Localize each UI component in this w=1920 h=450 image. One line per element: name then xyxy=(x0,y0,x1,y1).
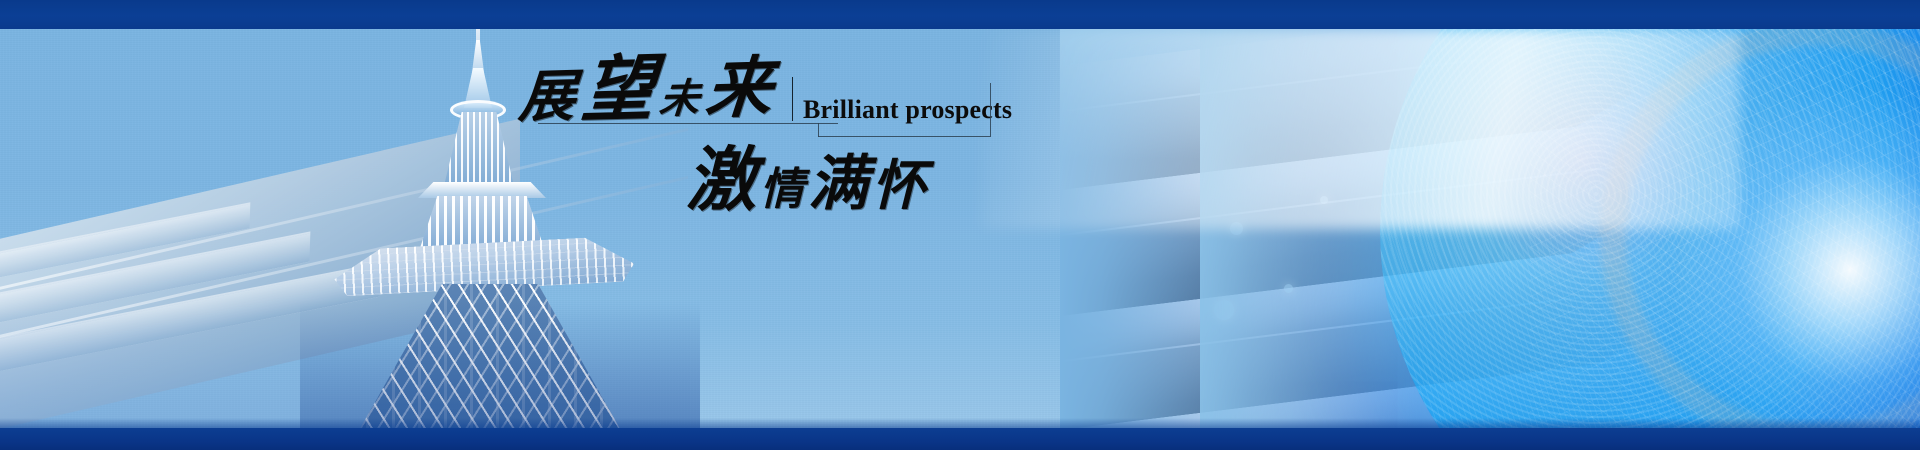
subline-chinese: 激情满怀 xyxy=(686,155,930,217)
headline-char-2: 望 xyxy=(579,49,664,131)
subline-char-4: 怀 xyxy=(872,156,930,216)
headline-row: 展望未来 Brilliant prospects xyxy=(520,55,1060,125)
top-navy-bar xyxy=(0,0,1920,29)
globe-graphic xyxy=(1200,0,1920,450)
bottom-bar-glow xyxy=(0,418,1920,428)
headline-divider xyxy=(792,77,793,121)
headline-char-4: 来 xyxy=(703,52,781,127)
subline-char-3: 满 xyxy=(808,151,872,217)
decor-rule-horizontal-lower xyxy=(818,136,990,137)
decor-rule-vertical-mid xyxy=(818,123,819,137)
headline-block: 展望未来 Brilliant prospects 激情满怀 xyxy=(520,55,1060,235)
globe-left-fade xyxy=(1200,0,1420,450)
headline-chinese: 展望未来 xyxy=(517,50,781,129)
decor-rule-horizontal-left xyxy=(538,123,838,124)
headline-char-3: 未 xyxy=(657,76,707,122)
promo-banner: 展望未来 Brilliant prospects 激情满怀 xyxy=(0,0,1920,450)
headline-english: Brilliant prospects xyxy=(803,95,1012,125)
bottom-navy-bar xyxy=(0,428,1920,450)
subline-char-2: 情 xyxy=(760,165,808,214)
subline-row: 激情满怀 xyxy=(686,147,930,217)
subline-char-1: 激 xyxy=(686,143,760,220)
headline-char-1: 展 xyxy=(517,66,584,130)
decor-rule-vertical-right xyxy=(990,83,991,137)
